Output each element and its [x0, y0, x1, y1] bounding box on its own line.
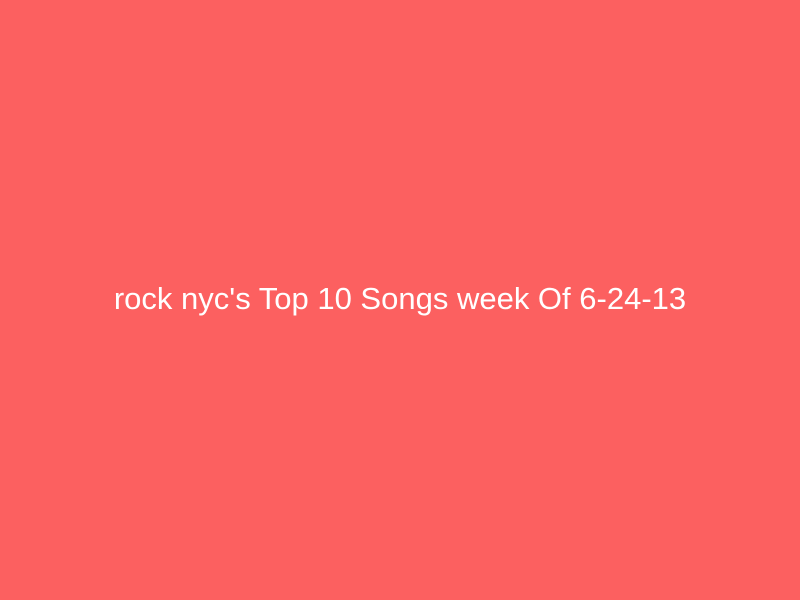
page-title: rock nyc's Top 10 Songs week Of 6-24-13	[114, 282, 686, 316]
placeholder-card: rock nyc's Top 10 Songs week Of 6-24-13	[0, 0, 800, 600]
